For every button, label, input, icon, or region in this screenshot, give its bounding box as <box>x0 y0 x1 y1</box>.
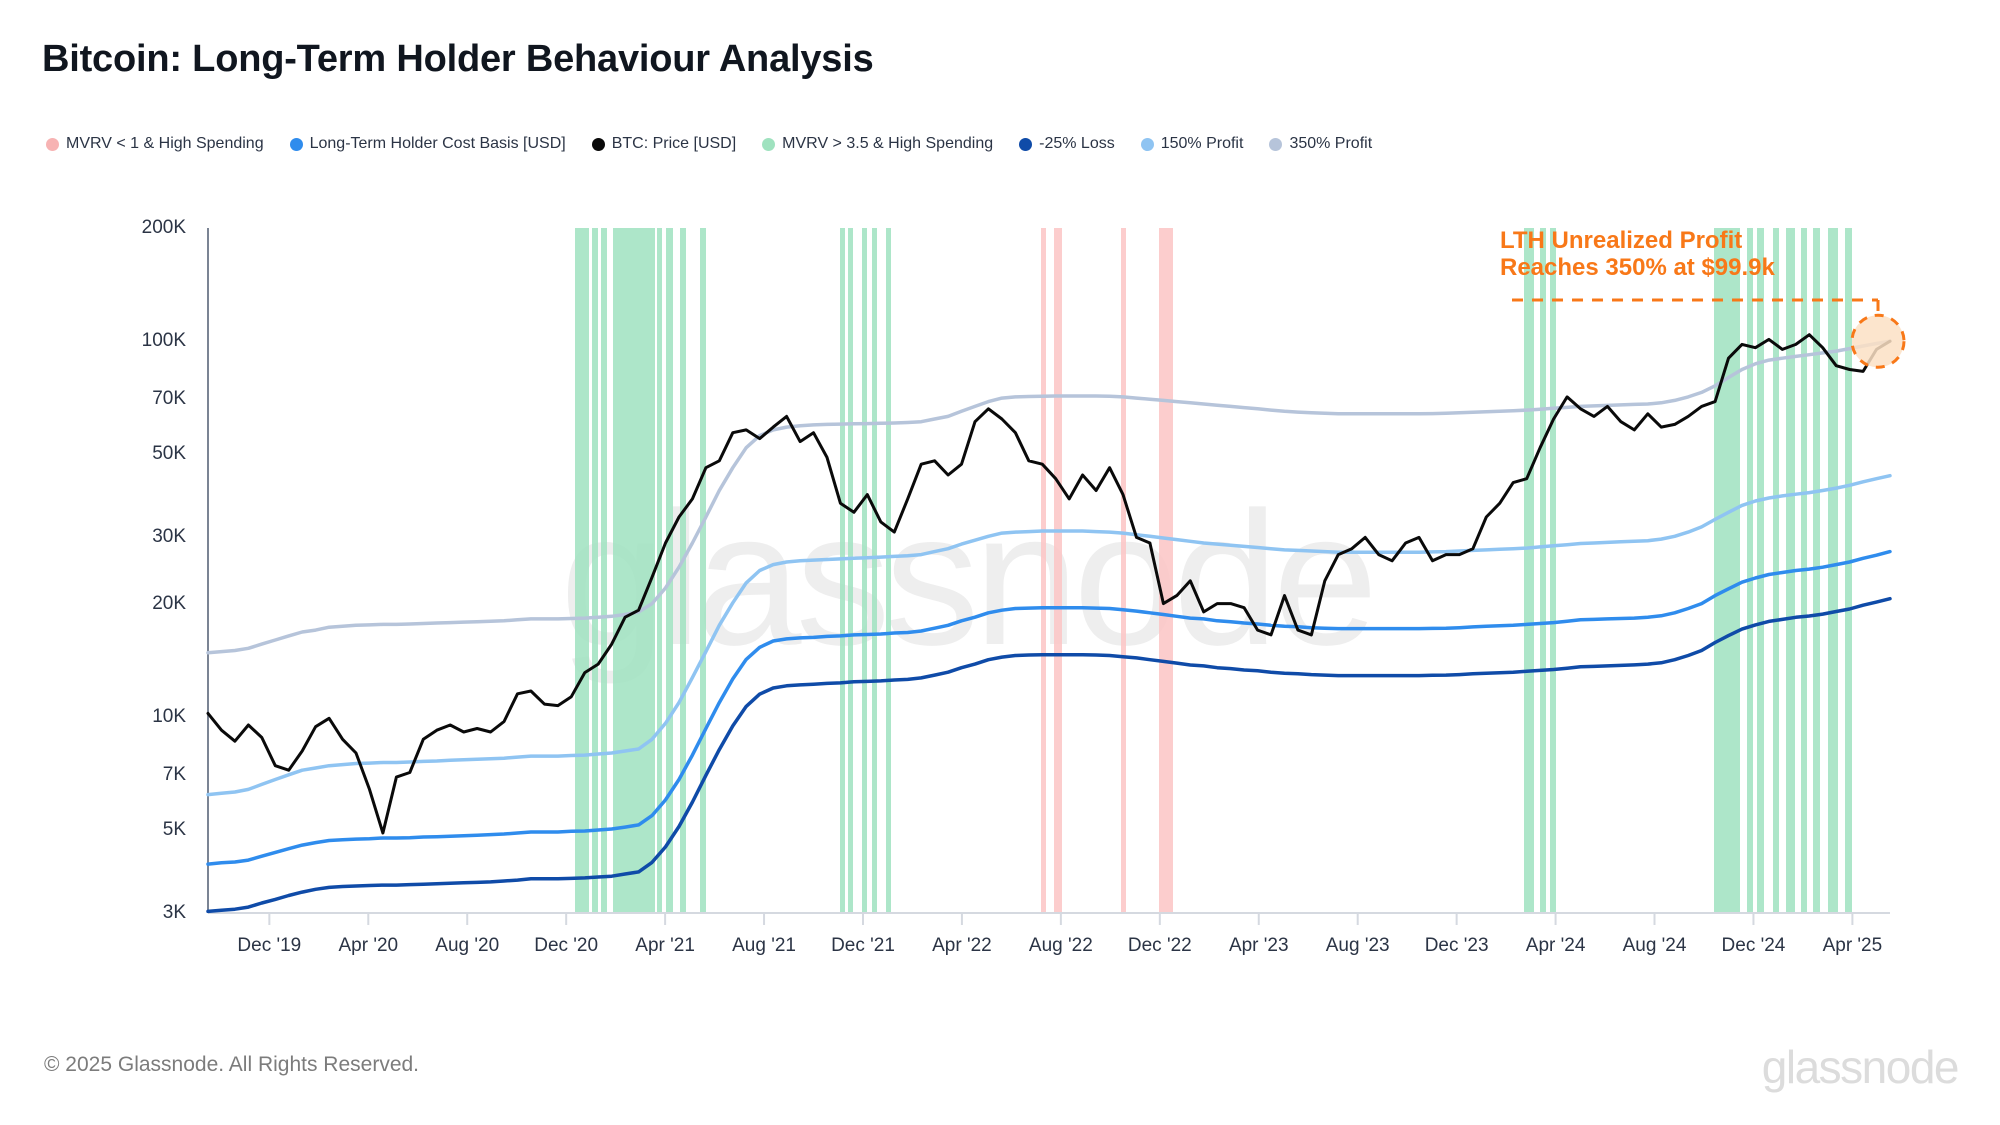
x-tick-label: Apr '24 <box>1526 935 1586 957</box>
x-tick-label: Apr '22 <box>932 935 992 957</box>
x-tick-label: Apr '21 <box>635 935 695 957</box>
x-tick-label: Aug '23 <box>1326 935 1390 957</box>
copyright-text: © 2025 Glassnode. All Rights Reserved. <box>44 1053 419 1077</box>
x-tick-label: Apr '20 <box>338 935 398 957</box>
x-tick-label: Dec '23 <box>1425 935 1489 957</box>
x-tick-label: Dec '19 <box>237 935 301 957</box>
x-tick-label: Dec '22 <box>1128 935 1192 957</box>
x-tick-label: Dec '20 <box>534 935 598 957</box>
glassnode-logo: glassnode <box>1762 1040 1958 1094</box>
x-tick-label: Aug '22 <box>1029 935 1093 957</box>
x-tick-label: Aug '24 <box>1623 935 1687 957</box>
x-tick-label: Aug '20 <box>435 935 499 957</box>
x-tick-label: Apr '23 <box>1229 935 1289 957</box>
annotation-label: LTH Unrealized Profit Reaches 350% at $9… <box>1500 228 1775 282</box>
x-tick-label: Dec '24 <box>1722 935 1786 957</box>
annotation-line-1: LTH Unrealized Profit <box>1500 228 1775 255</box>
x-tick-label: Aug '21 <box>732 935 796 957</box>
x-tick-label: Apr '25 <box>1823 935 1883 957</box>
x-axis: Dec '19Apr '20Aug '20Dec '20Apr '21Aug '… <box>0 0 2000 1125</box>
x-tick-label: Dec '21 <box>831 935 895 957</box>
annotation-line-2: Reaches 350% at $99.9k <box>1500 255 1775 282</box>
